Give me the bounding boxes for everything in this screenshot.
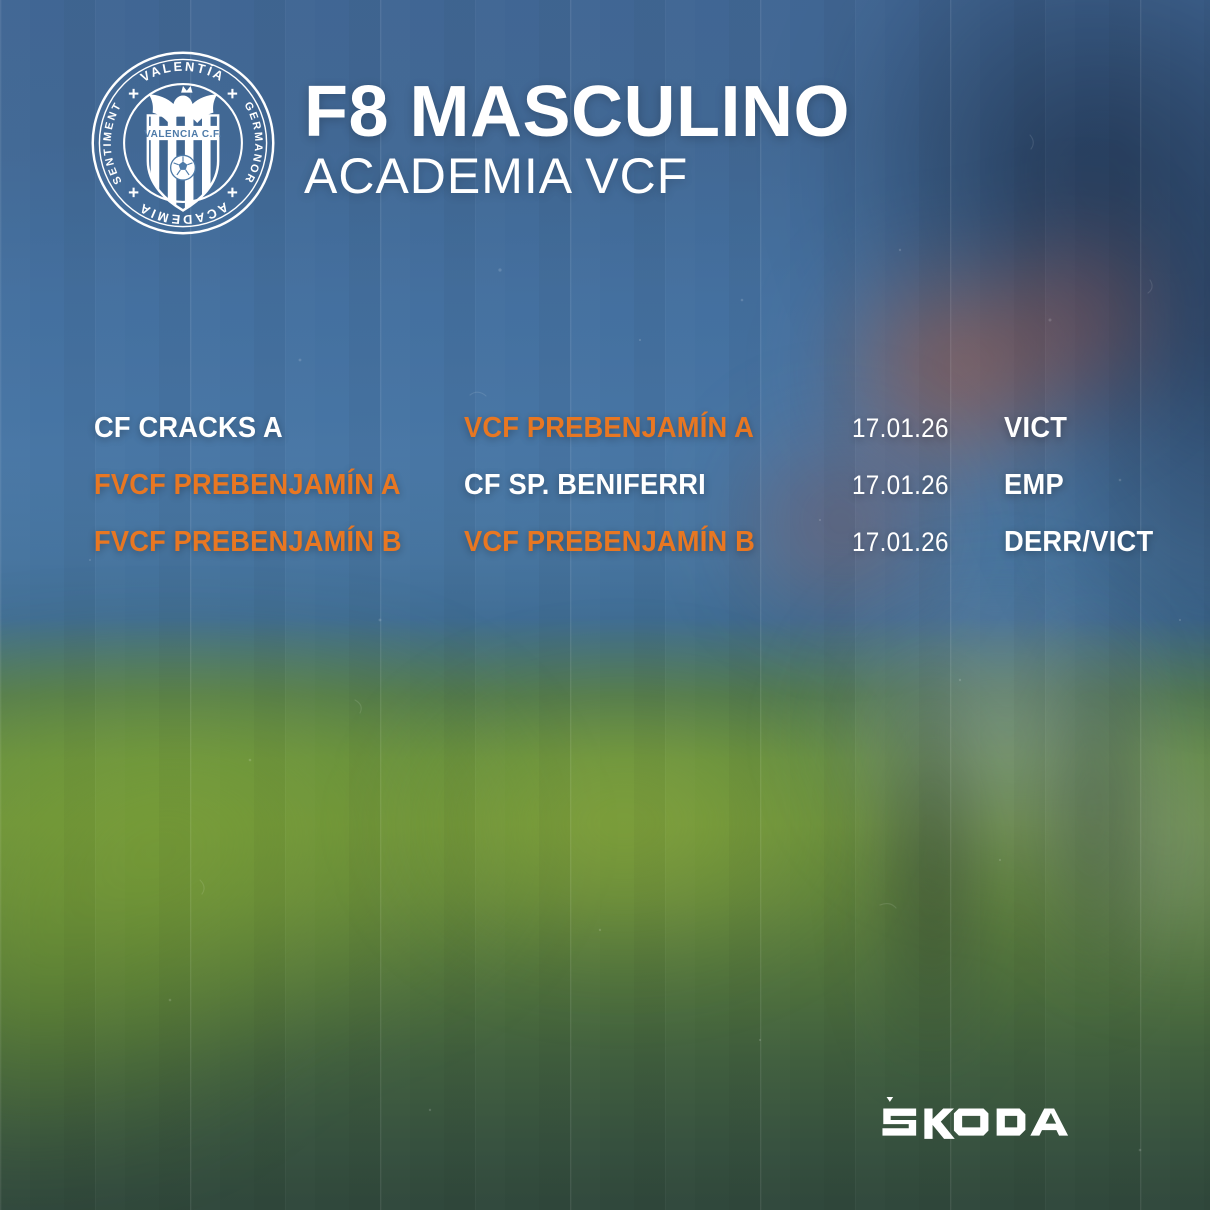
table-row: FVCF PREBENJAMÍN B VCF PREBENJAMÍN B 17.… [94,528,1144,585]
poster-header: VALENTÍA ACADEMIA GERMANOR SENTIMENT [88,48,850,238]
valencia-cf-academia-crest-icon: VALENTÍA ACADEMIA GERMANOR SENTIMENT [88,48,278,238]
home-team: FVCF PREBENJAMÍN B [94,528,442,557]
table-row: FVCF PREBENJAMÍN A CF SP. BENIFERRI 17.0… [94,471,1144,528]
table-row: CF CRACKS A VCF PREBENJAMÍN A 17.01.26 V… [94,414,1144,471]
away-team: VCF PREBENJAMÍN B [464,528,829,557]
home-team: CF CRACKS A [94,414,442,443]
away-team: VCF PREBENJAMÍN A [464,414,829,443]
title-block: F8 MASCULINO ACADEMIA VCF [304,77,850,209]
skoda-logo [880,1097,1126,1143]
away-team: CF SP. BENIFERRI [464,471,829,500]
match-result: DERR/VICT [1004,528,1153,557]
match-date: 17.01.26 [852,415,989,442]
page-subtitle: ACADEMIA VCF [304,150,850,203]
home-team: FVCF PREBENJAMÍN A [94,471,442,500]
page-title: F8 MASCULINO [304,77,850,148]
svg-text:VALENTÍA: VALENTÍA [138,59,228,85]
skoda-wordmark-icon [880,1097,1126,1143]
svg-text:ACADEMIA: ACADEMIA [135,200,231,228]
shield-icon: VALENCIA C.F. [144,115,223,215]
match-list: CF CRACKS A VCF PREBENJAMÍN A 17.01.26 V… [94,414,1144,585]
svg-text:VALENCIA C.F.: VALENCIA C.F. [144,129,222,140]
match-date: 17.01.26 [852,472,989,499]
match-result: EMP [1004,471,1136,500]
match-results-poster: VALENTÍA ACADEMIA GERMANOR SENTIMENT [0,0,1210,1210]
match-date: 17.01.26 [852,529,989,556]
match-result: VICT [1004,414,1136,443]
